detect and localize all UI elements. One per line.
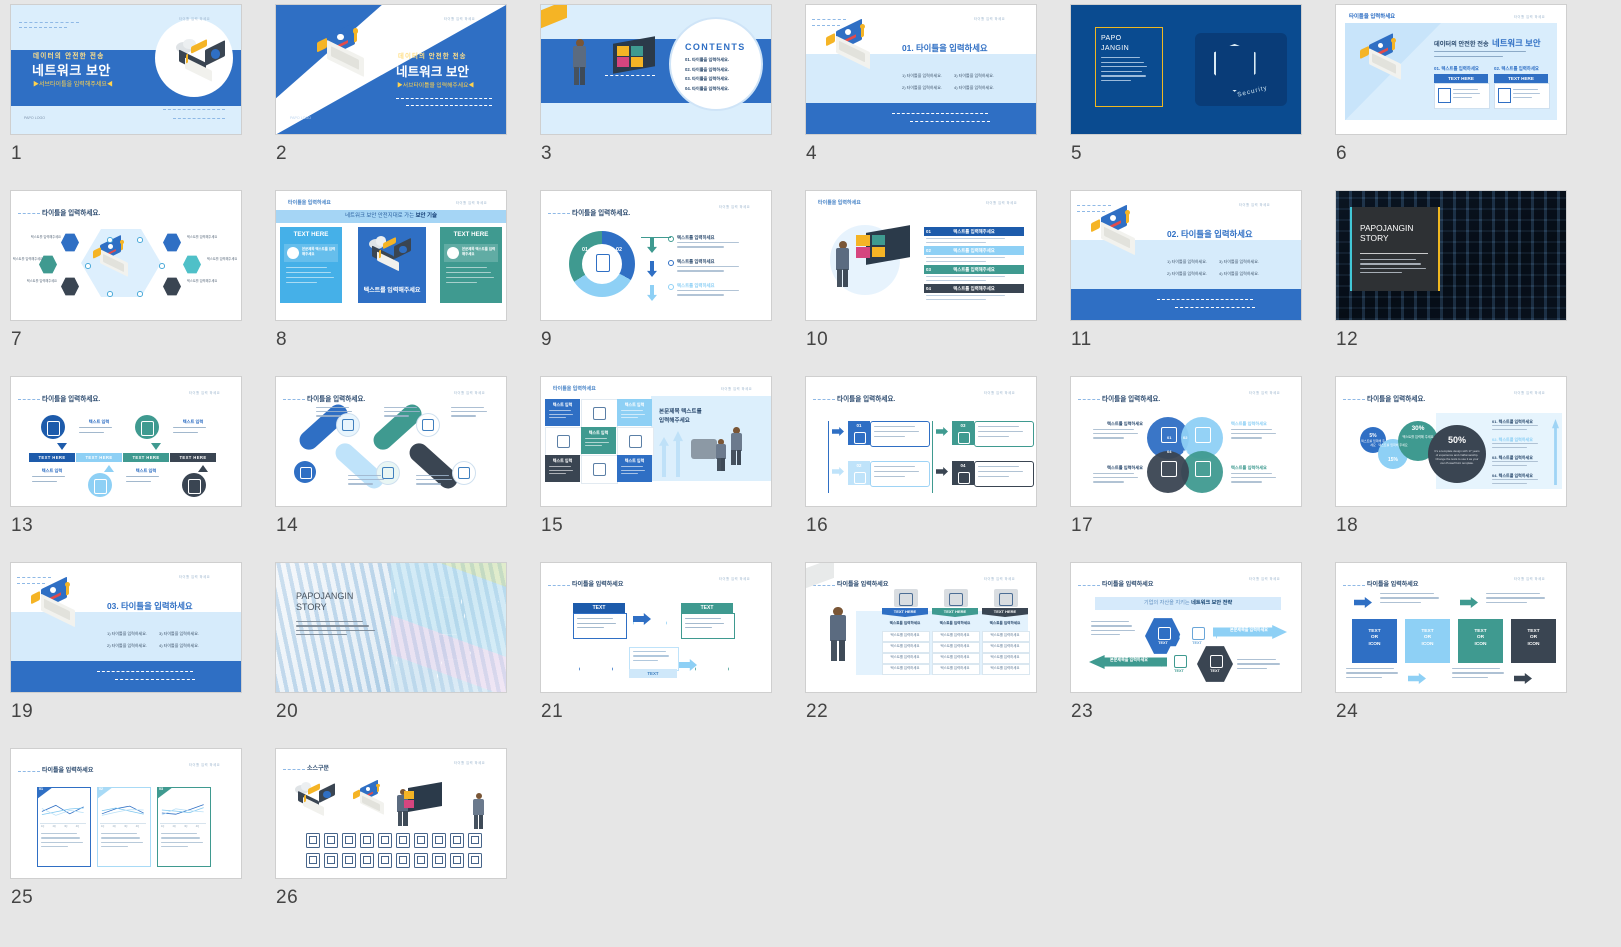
title-small: 데이터의 안전한 전송 bbox=[33, 50, 104, 60]
deco-dash bbox=[892, 113, 988, 114]
table-cell-label: 텍스트를 입력하세요 bbox=[932, 665, 978, 674]
slide-title: 타이틀을 입력하세요. bbox=[307, 393, 365, 403]
key-head bbox=[1125, 210, 1130, 215]
band-head: 텍스트 입력 bbox=[124, 468, 168, 474]
body-text-line bbox=[677, 246, 724, 247]
businessman-illustration bbox=[571, 39, 591, 86]
title-dash bbox=[548, 585, 570, 586]
deco-dash bbox=[1157, 299, 1253, 300]
callout-1 bbox=[573, 613, 627, 639]
deco-dash bbox=[1077, 211, 1105, 212]
col-header-label: TEXT HERE bbox=[932, 608, 978, 616]
slide-thumbnail[interactable]: 03. 타이틀을 입력하세요1) 타이틀을 입력하세요.3) 타이틀을 입력하세… bbox=[11, 563, 241, 692]
person-leg bbox=[574, 67, 579, 85]
zigzag-node-icon bbox=[422, 419, 434, 431]
slide-thumbnail[interactable]: 타이틀을 입력하세요기업의 자산을 지키는 네트워크 보안 전략TEXTTEXT… bbox=[1071, 563, 1301, 692]
slide-thumbnail[interactable]: 타이틀을 입력하세요데이터의 안전한 전송네트워크 보안01. 텍스트를 입력하… bbox=[1336, 5, 1566, 134]
chart-tick-label: 4Q bbox=[196, 825, 199, 828]
body-text-line bbox=[296, 630, 375, 631]
slide-thumbnail[interactable]: 타이틀을 입력하세요.5%텍스트를 입력해 주세요텍스트를 입력해 주세요15%… bbox=[1336, 377, 1566, 506]
bubble-label-4: It's a template design with 17 years of … bbox=[1434, 449, 1480, 465]
chart-tick-label: 2Q bbox=[173, 825, 176, 828]
slide-cell[interactable]: 타이틀을 입력하세요.TEXT HERETEXT HERETEXT HERETE… bbox=[11, 377, 241, 537]
isometric-laptop-illustration bbox=[822, 23, 882, 68]
slide-cell[interactable]: 02. 타이틀을 입력하세요1) 타이틀을 입력하세요.3) 타이틀을 입력하세… bbox=[1071, 191, 1301, 351]
slide-thumbnail[interactable]: 소스구문타이틀 입력 하세요 bbox=[276, 749, 506, 878]
chart-axis bbox=[100, 823, 146, 824]
source-icon-inner bbox=[345, 836, 353, 844]
donut-label-01: 01 bbox=[582, 247, 588, 253]
body-text-line bbox=[1237, 668, 1267, 669]
connector-line bbox=[641, 237, 671, 238]
slide-cell[interactable]: 타이틀을 입력하세요011Q2Q3Q4Q021Q2Q3Q4Q031Q2Q3Q4Q… bbox=[11, 749, 241, 909]
source-icon-inner bbox=[417, 856, 425, 864]
body-text-line bbox=[161, 842, 203, 843]
body-text-line bbox=[348, 483, 373, 484]
body-text-line bbox=[549, 414, 573, 415]
slide-thumbnail[interactable]: 데이터의 안전한 전송네트워크 보안▶서브타이틀을 입력해주세요◀PAPO LO… bbox=[276, 5, 506, 134]
slide-thumbnail[interactable]: 타이틀을 입력하세요TEXT OR ICONTEXT OR ICONTEXT O… bbox=[1336, 563, 1566, 692]
slide-sorter-grid[interactable]: 데이터의 안전한 전송네트워크 보안▶서브타이틀을 입력해주세요◀PAPO LO… bbox=[0, 0, 1621, 947]
donut-item-title: 텍스트를 입력하세요 bbox=[677, 235, 715, 241]
title-dash bbox=[283, 399, 305, 400]
slide-canvas: 타이틀을 입력하세요.TEXT HERETEXT HERETEXT HERETE… bbox=[11, 377, 241, 506]
corner-note: 타이틀 입력 하세요 bbox=[1514, 576, 1545, 581]
hex-node-label: 텍스트를 입력해주세요 bbox=[23, 279, 57, 284]
slide-thumbnail[interactable]: 타이틀을 입력하세요.01020304타이틀 입력 하세요 bbox=[806, 377, 1036, 506]
slide-cell[interactable]: 타이틀을 입력하세요.텍스트를 입력해주세요텍스트를 입력해주세요텍스트를 입력… bbox=[11, 191, 241, 351]
tag-3-label: TEXT bbox=[629, 669, 677, 678]
chart-tick-label: 3Q bbox=[124, 825, 127, 828]
corner-note: 타이틀 입력 하세요 bbox=[179, 16, 210, 21]
file-tile bbox=[856, 235, 870, 246]
col-header-label: TEXT HERE bbox=[882, 608, 928, 616]
title-dash bbox=[548, 213, 570, 214]
key-head bbox=[353, 28, 359, 34]
person-torso bbox=[830, 615, 846, 640]
slide-title: 타이틀을 입력하세요. bbox=[837, 393, 895, 403]
slide-canvas: SecurityPAPOJANGIN bbox=[1071, 5, 1301, 134]
slide-thumbnail[interactable]: 타이틀을 입력하세요.타이틀 입력 하세요 bbox=[276, 377, 506, 506]
slide-title: 타이틀을 입력하세요 bbox=[572, 579, 623, 588]
slide-cell[interactable]: 타이틀을 입력하세요.01020304타이틀 입력 하세요16 bbox=[806, 377, 1036, 537]
slide-canvas: 타이틀을 입력하세요TEXT OR ICONTEXT OR ICONTEXT O… bbox=[1336, 563, 1566, 692]
title-dash bbox=[18, 771, 40, 772]
slide-title: 타이틀을 입력하세요 bbox=[1102, 579, 1153, 588]
tag-2-label: TEXT bbox=[681, 603, 733, 613]
tile-head: 텍스트 입력 bbox=[617, 458, 652, 464]
zigzag-node-icon bbox=[300, 467, 312, 479]
slide-canvas: 타이틀을 입력하세요네트워크 보안 안전지대로 가는 보안 기술TEXT HER… bbox=[276, 191, 506, 320]
slide-title: 타이틀을 입력하세요 bbox=[42, 765, 93, 774]
slide-number-label: 18 bbox=[1336, 515, 1566, 537]
arrow-right-label: 본문제목을 입력하세요 bbox=[1217, 627, 1281, 633]
slide-thumbnail[interactable]: 타이틀을 입력하세요.010203텍스트를 입력하세요텍스트를 입력하세요텍스트… bbox=[541, 191, 771, 320]
slide-thumbnail[interactable]: 타이틀을 입력하세요TEXT HERE텍스트를 입력하세요텍스트를 입력하세요텍… bbox=[806, 563, 1036, 692]
person-torso bbox=[473, 799, 484, 816]
body-text-line bbox=[1231, 481, 1262, 482]
band-label: TEXT HERE bbox=[76, 453, 122, 462]
slide-cell[interactable]: 소스구문타이틀 입력 하세요26 bbox=[276, 749, 506, 909]
zigzag-node-icon bbox=[382, 467, 394, 479]
title-big: 네트워크 보안 bbox=[396, 61, 469, 80]
slide-thumbnail[interactable]: CONTENTS01. 타이틀을 입력하세요.02. 타이틀을 입력하세요.03… bbox=[541, 5, 771, 134]
brand-panel bbox=[1350, 207, 1440, 291]
slide-number-label: 2 bbox=[276, 143, 506, 165]
section-item: 1) 타이틀을 입력하세요. bbox=[107, 631, 147, 637]
donut-label-02: 02 bbox=[616, 247, 622, 253]
slide-thumbnail[interactable]: 타이틀을 입력하세요네트워크 보안 안전지대로 가는 보안 기술TEXT HER… bbox=[276, 191, 506, 320]
hex-shape bbox=[470, 630, 506, 675]
body-text-line bbox=[685, 623, 724, 624]
chart-tick-label: 2Q bbox=[113, 825, 116, 828]
title-dash bbox=[813, 399, 835, 400]
padlock-icon bbox=[826, 33, 835, 47]
subtitle: ▶서브타이틀을 입력해주세요◀ bbox=[33, 79, 113, 88]
hex-tag: TEXT bbox=[1197, 669, 1233, 673]
card-body[interactable] bbox=[974, 421, 1034, 447]
panel-right bbox=[440, 227, 502, 303]
person-leg bbox=[721, 458, 725, 470]
slide-canvas: 02. 타이틀을 입력하세요1) 타이틀을 입력하세요.3) 타이틀을 입력하세… bbox=[1071, 191, 1301, 320]
col-sub: 텍스트를 입력하세요 bbox=[882, 621, 928, 626]
person-leg bbox=[731, 450, 736, 465]
chart-tick-label: 1Q bbox=[41, 825, 44, 828]
slide-thumbnail[interactable]: 타이틀을 입력하세요011Q2Q3Q4Q021Q2Q3Q4Q031Q2Q3Q4Q… bbox=[11, 749, 241, 878]
slide-thumbnail[interactable]: 타이틀을 입력하세요TEXTTEXTTEXT타이틀 입력 하세요 bbox=[541, 563, 771, 692]
chart-tick-label: 3Q bbox=[64, 825, 67, 828]
col-icon bbox=[949, 593, 963, 606]
band-head: 텍스트 입력 bbox=[30, 468, 74, 474]
slide-cell[interactable]: 타이틀을 입력하세요TEXTTEXTTEXT타이틀 입력 하세요21 bbox=[541, 563, 771, 723]
slide-thumbnail[interactable]: 01. 타이틀을 입력하세요1) 타이틀을 입력하세요.3) 타이틀을 입력하세… bbox=[806, 5, 1036, 134]
slide-canvas: PAPOJANGIN STORY bbox=[276, 563, 506, 692]
spine-right bbox=[932, 421, 933, 493]
connector-dot bbox=[107, 237, 113, 243]
hex-shape bbox=[429, 597, 465, 636]
slide-thumbnail[interactable]: 타이틀을 입력하세요텍스트 입력텍스트 입력텍스트 입력텍스트 입력텍스트 입력… bbox=[541, 377, 771, 506]
slide-cell[interactable]: 데이터의 안전한 전송네트워크 보안▶서브타이틀을 입력해주세요◀PAPO LO… bbox=[11, 5, 241, 165]
body-text-line bbox=[585, 442, 609, 443]
list-row-label: 텍스트를 입력해주세요 bbox=[924, 227, 1024, 236]
table-cell-label: 텍스트를 입력하세요 bbox=[982, 665, 1028, 674]
connector-dot bbox=[668, 284, 674, 290]
title-small: 데이터의 안전한 전송 bbox=[398, 51, 467, 60]
table-cell-label: 텍스트를 입력하세요 bbox=[932, 632, 978, 641]
slide-cell[interactable]: 타이틀을 입력하세요.5%텍스트를 입력해 주세요텍스트를 입력해 주세요15%… bbox=[1336, 377, 1566, 537]
deco-dash bbox=[173, 118, 225, 119]
padlock-icon bbox=[317, 38, 327, 53]
card-icon bbox=[958, 432, 970, 444]
source-icon-inner bbox=[471, 856, 479, 864]
slide-thumbnail[interactable]: 타이틀을 입력하세요.TEXT HERETEXT HERETEXT HERETE… bbox=[11, 377, 241, 506]
folder-tile bbox=[617, 57, 629, 67]
slide-number-label: 20 bbox=[276, 701, 506, 723]
source-icon-inner bbox=[417, 836, 425, 844]
banner-text-bold: 보안 기술 bbox=[416, 213, 437, 219]
slide-cell[interactable]: PAPOJANGIN STORY12 bbox=[1336, 191, 1566, 351]
tag-1-label: TEXT bbox=[573, 603, 625, 613]
slide-number-label: 22 bbox=[806, 701, 1036, 723]
slide-cell[interactable]: 타이틀을 입력하세요기업의 자산을 지키는 네트워크 보안 전략TEXTTEXT… bbox=[1071, 563, 1301, 723]
body-text-line bbox=[173, 432, 198, 433]
corner-note: 타이틀 입력 하세요 bbox=[444, 16, 475, 21]
avatar-icon bbox=[108, 244, 113, 249]
connector-dot bbox=[159, 263, 165, 269]
slide-number-label: 14 bbox=[276, 515, 506, 537]
source-icon-inner bbox=[363, 856, 371, 864]
slide-canvas: 데이터의 안전한 전송네트워크 보안▶서브타이틀을 입력해주세요◀PAPO LO… bbox=[11, 5, 241, 134]
bubble-pct-2: 15% bbox=[1378, 457, 1408, 463]
padlock-icon bbox=[691, 439, 717, 459]
table-cell-label: 텍스트를 입력하세요 bbox=[882, 665, 928, 674]
donut-item-title: 텍스트를 입력하세요 bbox=[677, 259, 715, 265]
bottom-band bbox=[11, 661, 241, 692]
corner-note: 타이틀 입력 하세요 bbox=[721, 386, 752, 391]
slide-cell[interactable]: 타이틀을 입력하세요네트워크 보안 안전지대로 가는 보안 기술TEXT HER… bbox=[276, 191, 506, 351]
deco-dash bbox=[19, 22, 79, 23]
title-dash bbox=[18, 399, 40, 400]
slide-canvas: CONTENTS01. 타이틀을 입력하세요.02. 타이틀을 입력하세요.03… bbox=[541, 5, 771, 134]
person-torso bbox=[716, 444, 725, 459]
section-item: 3) 타이틀을 입력하세요. bbox=[159, 631, 199, 637]
source-icon-inner bbox=[399, 856, 407, 864]
slide-header: 타이틀을 입력하세요 bbox=[553, 385, 596, 392]
card-number: 04 bbox=[952, 463, 974, 468]
source-icon-inner bbox=[381, 856, 389, 864]
slide-cell[interactable]: 03. 타이틀을 입력하세요1) 타이틀을 입력하세요.3) 타이틀을 입력하세… bbox=[11, 563, 241, 723]
slide-header: 타이틀을 입력하세요 bbox=[288, 199, 331, 206]
callout-2 bbox=[681, 613, 735, 639]
col-sub: 텍스트를 입력하세요 bbox=[982, 621, 1028, 626]
chart-tick-label: 4Q bbox=[136, 825, 139, 828]
bubble-pct-4: 50% bbox=[1428, 435, 1486, 445]
hex-icon bbox=[1192, 627, 1205, 640]
banner-text: 기업의 자산을 지키는 네트워크 보안 전략 bbox=[1095, 597, 1281, 610]
accent-bar-left bbox=[1350, 207, 1352, 291]
corner-note: 타이틀 입력 하세요 bbox=[984, 390, 1015, 395]
deco-dash bbox=[396, 98, 492, 99]
quad-number: 03 bbox=[1183, 449, 1187, 454]
chart-card-number: 01 bbox=[39, 787, 43, 791]
slide-cell[interactable]: 01. 타이틀을 입력하세요1) 타이틀을 입력하세요.3) 타이틀을 입력하세… bbox=[806, 5, 1036, 165]
card-body[interactable] bbox=[974, 461, 1034, 487]
body-text-line bbox=[633, 655, 669, 656]
source-icon-inner bbox=[435, 856, 443, 864]
slide-thumbnail[interactable]: PAPOJANGIN STORY bbox=[1336, 191, 1566, 320]
table-cell-label: 텍스트를 입력하세요 bbox=[932, 654, 978, 663]
band-label: TEXT HERE bbox=[170, 453, 216, 462]
band-label: TEXT HERE bbox=[123, 453, 169, 462]
contents-heading: CONTENTS bbox=[685, 42, 746, 52]
slide-cell[interactable]: CONTENTS01. 타이틀을 입력하세요.02. 타이틀을 입력하세요.03… bbox=[541, 5, 771, 165]
slide-canvas: 01. 타이틀을 입력하세요1) 타이틀을 입력하세요.3) 타이틀을 입력하세… bbox=[806, 5, 1036, 134]
body-text-line bbox=[1360, 268, 1426, 269]
card-body[interactable] bbox=[870, 461, 930, 487]
slide-thumbnail[interactable]: 타이틀을 입력하세요01텍스트를 입력해주세요02텍스트를 입력해주세요03텍스… bbox=[806, 191, 1036, 320]
square-tile-label: TEXT OR ICON bbox=[1405, 629, 1450, 648]
key-head bbox=[860, 24, 865, 29]
panel-subhead: 본문제목 텍스트를 입력해주세요 bbox=[462, 247, 498, 257]
slide-number-label: 26 bbox=[276, 887, 506, 909]
card-body[interactable] bbox=[870, 421, 930, 447]
section-item: 2) 타이틀을 입력하세요. bbox=[107, 643, 147, 649]
section-item: 4) 타이틀을 입력하세요. bbox=[159, 643, 199, 649]
contents-circle bbox=[669, 17, 763, 111]
slide-cell[interactable]: PAPOJANGIN STORY20 bbox=[276, 563, 506, 723]
slide-thumbnail[interactable]: 타이틀을 입력하세요.01020304텍스트를 입력하세요텍스트를 입력하세요텍… bbox=[1071, 377, 1301, 506]
brand-title: PAPOJANGIN STORY bbox=[296, 591, 380, 613]
person-torso bbox=[731, 433, 742, 451]
slide-canvas: 타이틀을 입력하세요텍스트 입력텍스트 입력텍스트 입력텍스트 입력텍스트 입력… bbox=[541, 377, 771, 506]
chart-tick-label: 1Q bbox=[101, 825, 104, 828]
corner-note: 타이틀 입력 하세요 bbox=[1249, 390, 1280, 395]
quad-item-title: 텍스트를 입력하세요 bbox=[1231, 421, 1281, 427]
chart-tick-label: 2Q bbox=[53, 825, 56, 828]
slide-cell[interactable]: 데이터의 안전한 전송네트워크 보안▶서브타이틀을 입력해주세요◀PAPO LO… bbox=[276, 5, 506, 165]
slide-cell[interactable]: SecurityPAPOJANGIN5 bbox=[1071, 5, 1301, 165]
slide-canvas: 타이틀을 입력하세요TEXT HERE텍스트를 입력하세요텍스트를 입력하세요텍… bbox=[806, 563, 1036, 692]
contents-item: 01. 타이틀을 입력하세요. bbox=[685, 57, 729, 63]
deco-dash bbox=[17, 577, 51, 578]
body-text-line bbox=[1346, 672, 1398, 673]
slide-number-label: 17 bbox=[1071, 515, 1301, 537]
deco-dash bbox=[812, 19, 846, 20]
slide-thumbnail[interactable]: 02. 타이틀을 입력하세요1) 타이틀을 입력하세요.3) 타이틀을 입력하세… bbox=[1071, 191, 1301, 320]
body-text-line bbox=[549, 470, 573, 471]
body-text-line bbox=[633, 660, 658, 661]
avatar-icon bbox=[337, 34, 344, 41]
person-leg bbox=[843, 269, 848, 287]
person-leg bbox=[403, 811, 407, 825]
hex-icon bbox=[1174, 655, 1187, 668]
band-icon bbox=[94, 479, 107, 494]
person-leg bbox=[474, 815, 478, 829]
body-text-line bbox=[1101, 75, 1146, 76]
slide-number-label: 16 bbox=[806, 515, 1036, 537]
slide-cell[interactable]: 타이틀을 입력하세요01텍스트를 입력해주세요02텍스트를 입력해주세요03텍스… bbox=[806, 191, 1036, 351]
isometric-laptop-illustration bbox=[27, 581, 87, 626]
slide-thumbnail[interactable]: 데이터의 안전한 전송네트워크 보안▶서브타이틀을 입력해주세요◀PAPO LO… bbox=[11, 5, 241, 134]
quad-item-title: 텍스트를 입력하세요 bbox=[1231, 465, 1281, 471]
source-icon-inner bbox=[363, 836, 371, 844]
body-text-line bbox=[1492, 447, 1527, 448]
source-icon-inner bbox=[327, 856, 335, 864]
source-icon-inner bbox=[399, 836, 407, 844]
band-icon bbox=[141, 421, 154, 436]
slide-cell[interactable]: 타이틀을 입력하세요.01020304텍스트를 입력하세요텍스트를 입력하세요텍… bbox=[1071, 377, 1301, 537]
quad-item-title: 텍스트를 입력하세요 bbox=[1093, 465, 1143, 471]
slide-cell[interactable]: 타이틀을 입력하세요텍스트 입력텍스트 입력텍스트 입력텍스트 입력텍스트 입력… bbox=[541, 377, 771, 537]
slide-cell[interactable]: 타이틀을 입력하세요데이터의 안전한 전송네트워크 보안01. 텍스트를 입력하… bbox=[1336, 5, 1566, 165]
corner-note: 타이틀 입력 하세요 bbox=[454, 760, 485, 765]
key-head bbox=[1391, 38, 1396, 43]
slide-header: 타이틀을 입력하세요 bbox=[818, 199, 861, 206]
band-icon bbox=[188, 479, 201, 494]
deco-dash bbox=[19, 27, 67, 28]
slide-number-label: 23 bbox=[1071, 701, 1301, 723]
title-dash bbox=[1343, 399, 1365, 400]
corner-note: 타이틀 입력 하세요 bbox=[1514, 14, 1545, 19]
hex-node-label: 텍스트를 입력해주세요 bbox=[187, 279, 221, 284]
slide-number-label: 11 bbox=[1071, 329, 1301, 351]
body-text-line bbox=[1486, 597, 1545, 598]
hex-node-label: 텍스트를 입력해주세요 bbox=[207, 257, 241, 262]
slide-cell[interactable]: 타이틀을 입력하세요TEXT OR ICONTEXT OR ICONTEXT O… bbox=[1336, 563, 1566, 723]
isometric-cloud-lock-illustration bbox=[294, 781, 339, 814]
body-text-line bbox=[79, 432, 104, 433]
source-icon-inner bbox=[471, 836, 479, 844]
section-item: 1) 타이틀을 입력하세요. bbox=[902, 73, 942, 79]
slide-thumbnail[interactable]: PAPOJANGIN STORY bbox=[276, 563, 506, 692]
person-leg bbox=[737, 450, 742, 465]
banner-text: 네트워크 보안 안전지대로 가는 보안 기술 bbox=[276, 210, 506, 223]
card1-sub: 01. 텍스트를 입력하세요 bbox=[1434, 66, 1479, 72]
panel-left bbox=[280, 227, 342, 303]
deco-dash bbox=[812, 25, 840, 26]
slide-cell[interactable]: 타이틀을 입력하세요.타이틀 입력 하세요14 bbox=[276, 377, 506, 537]
subtitle: ▶서브타이틀을 입력해주세요◀ bbox=[397, 80, 474, 89]
slide-number-label: 5 bbox=[1071, 143, 1301, 165]
isometric-laptop-illustration bbox=[89, 239, 138, 275]
slide-cell[interactable]: 타이틀을 입력하세요.010203텍스트를 입력하세요텍스트를 입력하세요텍스트… bbox=[541, 191, 771, 351]
corner-note: 타이틀 입력 하세요 bbox=[189, 762, 220, 767]
body-text-line bbox=[1452, 672, 1504, 673]
quad-number: 04 bbox=[1167, 449, 1171, 454]
table-cell-label: 텍스트를 입력하세요 bbox=[982, 654, 1028, 663]
tile-head: 텍스트 입력 bbox=[545, 402, 580, 408]
slide-number-label: 13 bbox=[11, 515, 241, 537]
padlock-icon bbox=[211, 49, 220, 58]
banner-text-bold: 네트워크 보안 전략 bbox=[1191, 600, 1232, 606]
businessman-illustration bbox=[828, 607, 851, 662]
slide-canvas: 타이틀을 입력하세요01텍스트를 입력해주세요02텍스트를 입력해주세요03텍스… bbox=[806, 191, 1036, 320]
body-text-line bbox=[451, 415, 476, 416]
bubble-pct-3: 30% bbox=[1398, 425, 1438, 432]
tile-icon bbox=[557, 435, 570, 448]
body-text-line bbox=[1452, 677, 1488, 678]
card-icon bbox=[958, 472, 970, 484]
hex-node-label: 텍스트를 입력해주세요 bbox=[11, 257, 43, 262]
slide-title: 타이틀을 입력하세요. bbox=[572, 207, 630, 217]
quad-item-title: 텍스트를 입력하세요 bbox=[1093, 421, 1143, 427]
section-heading: 03. 타이틀을 입력하세요 bbox=[107, 600, 193, 612]
zigzag-node-icon bbox=[458, 467, 470, 479]
slide-number-label: 4 bbox=[806, 143, 1036, 165]
card-header-label: TEXT HERE bbox=[1494, 74, 1548, 83]
quad-icon bbox=[1195, 427, 1211, 443]
folder-tile bbox=[631, 57, 643, 67]
slide-title: 타이틀을 입력하세요 bbox=[837, 579, 888, 588]
band-head: 텍스트 입력 bbox=[77, 419, 121, 425]
padlock-icon bbox=[31, 591, 40, 605]
body-text-line bbox=[1380, 597, 1439, 598]
table-cell-label: 텍스트를 입력하세요 bbox=[882, 643, 928, 652]
slide-thumbnail[interactable]: 타이틀을 입력하세요.텍스트를 입력해주세요텍스트를 입력해주세요텍스트를 입력… bbox=[11, 191, 241, 320]
slide-thumbnail[interactable]: SecurityPAPOJANGIN bbox=[1071, 5, 1301, 134]
footer-logo: PAPO LOGO bbox=[24, 116, 45, 120]
person-leg bbox=[839, 640, 845, 661]
isometric-laptop-illustration bbox=[1087, 209, 1147, 254]
slide-number-label: 8 bbox=[276, 329, 506, 351]
slide-cell[interactable]: 타이틀을 입력하세요TEXT HERE텍스트를 입력하세요텍스트를 입력하세요텍… bbox=[806, 563, 1036, 723]
isometric-laptop-illustration bbox=[1356, 37, 1412, 79]
section-item: 3) 타이틀을 입력하세요. bbox=[1219, 259, 1259, 265]
brand-line-1: PAPO bbox=[1101, 35, 1122, 42]
col-icon bbox=[999, 593, 1013, 606]
slide-number-label: 12 bbox=[1336, 329, 1566, 351]
body-text-line bbox=[316, 415, 341, 416]
